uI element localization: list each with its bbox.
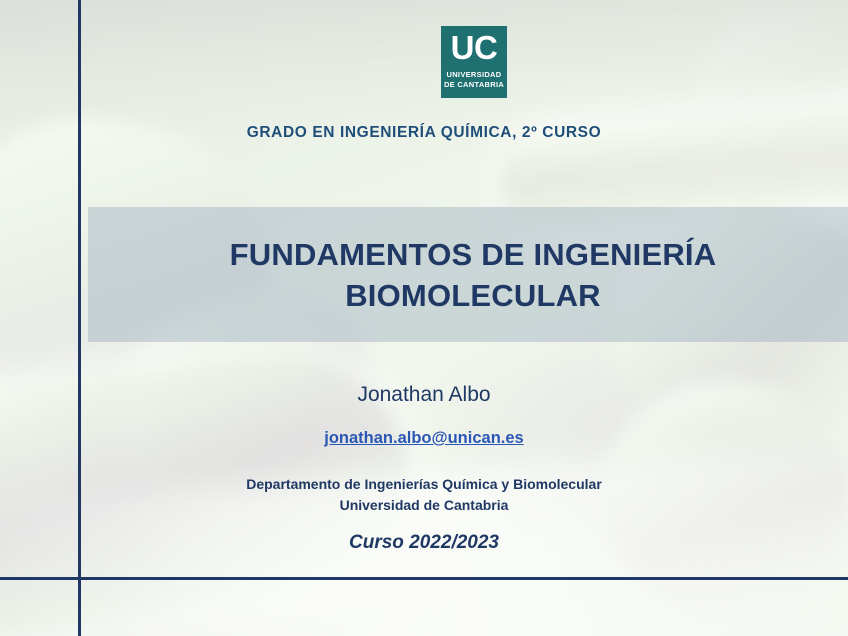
- page-title: FUNDAMENTOS DE INGENIERÍA BIOMOLECULAR: [88, 234, 848, 316]
- programme-kicker: GRADO EN INGENIERÍA QUÍMICA, 2º CURSO: [0, 124, 848, 142]
- page-title-line2: BIOMOLECULAR: [98, 275, 848, 316]
- horizontal-rule: [0, 577, 848, 580]
- department-line2: Universidad de Cantabria: [0, 495, 848, 516]
- title-banner: FUNDAMENTOS DE INGENIERÍA BIOMOLECULAR: [88, 207, 848, 342]
- logo-monogram: UC: [451, 31, 498, 65]
- author-email-container: jonathan.albo@unican.es: [0, 429, 848, 448]
- author-name: Jonathan Albo: [0, 383, 848, 407]
- page-title-line1: FUNDAMENTOS DE INGENIERÍA: [98, 234, 848, 275]
- department-line1: Departamento de Ingenierías Química y Bi…: [0, 474, 848, 495]
- logo-wordmark: UNIVERSIDAD DE CANTABRIA: [444, 70, 504, 89]
- author-email-link[interactable]: jonathan.albo@unican.es: [324, 429, 523, 447]
- logo-wordmark-line1: UNIVERSIDAD: [444, 70, 504, 80]
- academic-year: Curso 2022/2023: [0, 532, 848, 554]
- title-slide: UC UNIVERSIDAD DE CANTABRIA GRADO EN ING…: [0, 0, 848, 636]
- university-logo: UC UNIVERSIDAD DE CANTABRIA: [441, 26, 507, 98]
- logo-wordmark-line2: DE CANTABRIA: [444, 80, 504, 90]
- department-affiliation: Departamento de Ingenierías Química y Bi…: [0, 474, 848, 516]
